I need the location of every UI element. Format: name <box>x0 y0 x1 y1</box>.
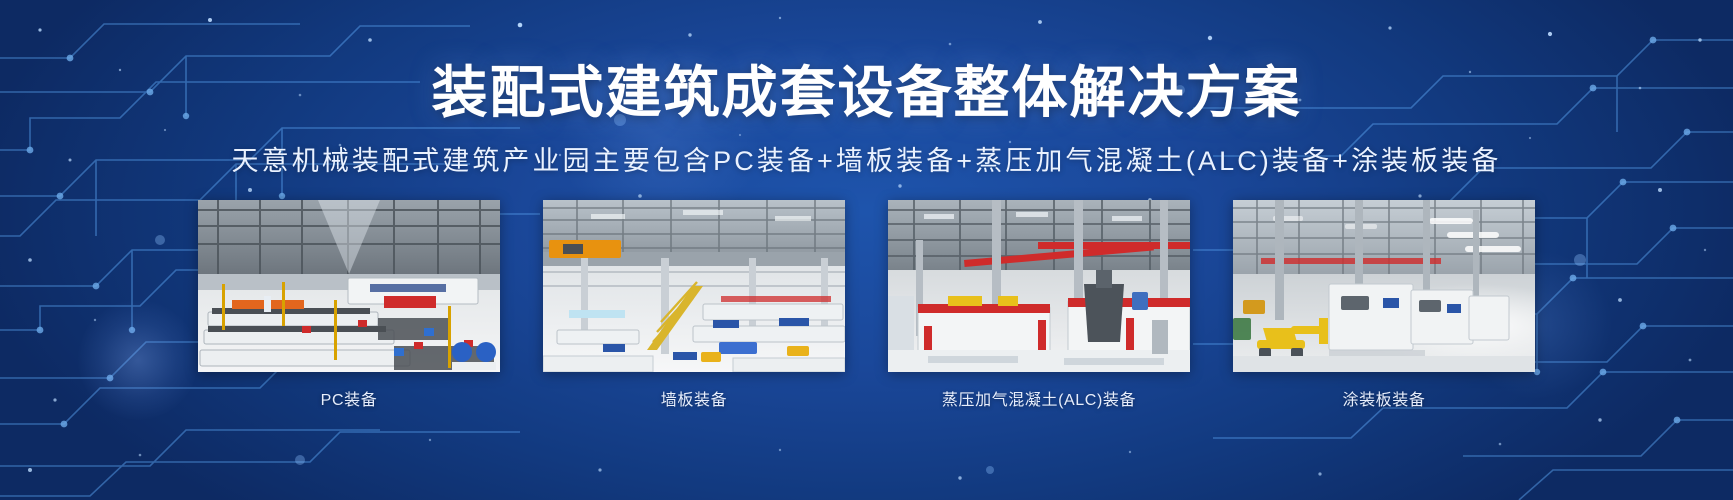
equipment-card-caption: PC装备 <box>321 386 378 410</box>
page-subtitle: 天意机械装配式建筑产业园主要包含PC装备+墙板装备+蒸压加气混凝土(ALC)装备… <box>232 139 1502 178</box>
equipment-card-caption: 墙板装备 <box>661 386 727 410</box>
equipment-card-list: PC装备 <box>177 200 1557 410</box>
coated-panel-equipment-factory-photo <box>1233 200 1535 372</box>
equipment-card-caption: 涂装板装备 <box>1342 386 1425 410</box>
equipment-card-caption: 蒸压加气混凝土(ALC)装备 <box>942 386 1136 410</box>
alc-equipment-factory-photo <box>888 200 1190 372</box>
equipment-card[interactable]: PC装备 <box>177 200 522 410</box>
equipment-card[interactable]: 蒸压加气混凝土(ALC)装备 <box>867 200 1212 410</box>
equipment-card[interactable]: 墙板装备 <box>522 200 867 410</box>
wallboard-equipment-factory-photo <box>543 200 845 372</box>
equipment-card[interactable]: 涂装板装备 <box>1212 200 1557 410</box>
page-title: 装配式建筑成套设备整体解决方案 <box>432 63 1302 123</box>
banner-content: 装配式建筑成套设备整体解决方案 天意机械装配式建筑产业园主要包含PC装备+墙板装… <box>0 0 1733 500</box>
pc-equipment-factory-photo <box>198 200 500 372</box>
promo-banner: 装配式建筑成套设备整体解决方案 天意机械装配式建筑产业园主要包含PC装备+墙板装… <box>0 0 1733 500</box>
